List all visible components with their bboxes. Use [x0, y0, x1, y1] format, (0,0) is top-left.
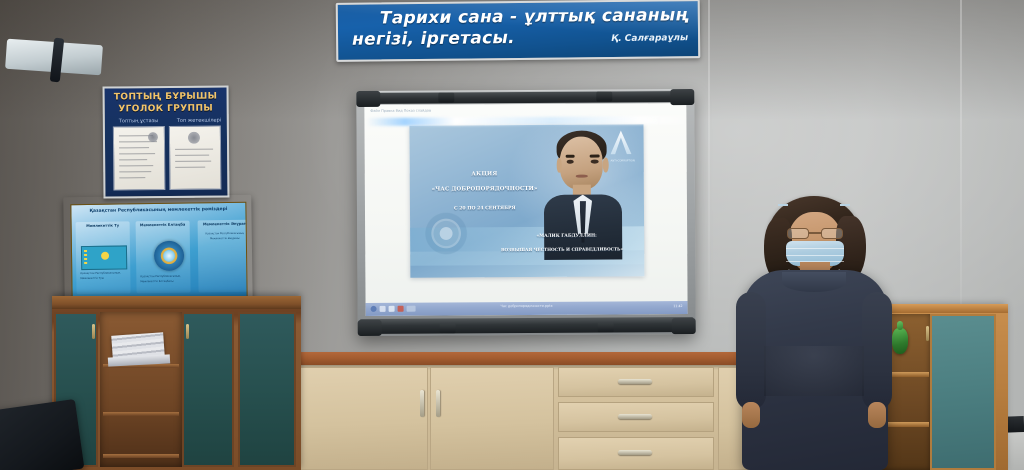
whiteboard-clip-bottom-2 — [598, 322, 614, 332]
powerpoint-icon[interactable] — [398, 306, 404, 312]
board-sub-left: Топтың ұстазы — [119, 118, 158, 124]
poster-column-anthem: Мемлекеттік Әнұран Қазақстан Республикас… — [198, 220, 248, 293]
drawer-handle-1[interactable] — [618, 379, 652, 384]
right-cabinet-handle[interactable] — [926, 326, 929, 341]
whiteboard-clip-top-1 — [438, 92, 454, 102]
kazakhstan-flag-icon — [81, 245, 127, 270]
shelf-board-3 — [103, 454, 179, 458]
state-symbols-poster: Қазақстан Республикасының мемлекеттік рә… — [70, 202, 247, 302]
left-cabinet-door-2[interactable] — [182, 312, 234, 467]
start-button-icon[interactable] — [371, 306, 377, 312]
foreground-chair[interactable] — [0, 399, 84, 470]
document-stamp-icon — [148, 132, 158, 142]
slide-line-5: ВОЗВЫШАЯ ЧЕСТНОСТЬ И СПРАВЕДЛИВОСТЬ» — [480, 246, 643, 252]
mask-strap-left — [778, 204, 788, 206]
cabinet-handle-2[interactable] — [436, 390, 440, 417]
board-document-right — [169, 126, 222, 190]
anticorruption-logo-icon: ANTI-CORRUPTION — [610, 131, 631, 163]
left-cabinet-open-shelf — [100, 312, 182, 467]
poster-col2-body: Қазақстан Республикасының Мемлекеттік Ел… — [140, 275, 186, 285]
logo-label: ANTI-CORRUPTION — [611, 159, 632, 162]
cabinet-door-2[interactable] — [430, 367, 554, 470]
whiteboard-corner-top-right — [670, 89, 694, 105]
taskbar-window-title[interactable]: Час добропорядочности.pptx — [501, 304, 553, 308]
projected-desktop: Файл Правка Вид Показ слайдов — [364, 103, 687, 316]
left-cabinet-handle-2[interactable] — [186, 324, 189, 339]
presentation-slide: ANTI-CORRUPTION АКЦИЯ «ЧАС ДОБРОПОРЯДОЧН… — [410, 124, 644, 277]
poster-col1-body: Қазақстан Республикасының Мемлекеттік Ту… — [80, 271, 126, 281]
portrait-brow-left — [566, 155, 575, 158]
shelf-board-2 — [103, 412, 179, 416]
browser-icon[interactable] — [389, 306, 395, 312]
drawer-handle-2[interactable] — [618, 414, 652, 419]
dress-collar — [782, 272, 846, 292]
cabinet-door-1[interactable] — [298, 367, 428, 470]
presenter-arm-left — [736, 292, 766, 410]
portrait-head — [560, 137, 603, 190]
wall-banner: Тарихи сана - ұлттық сананың негізі, ірг… — [336, 0, 701, 62]
taskbar-clock: 11:42 — [673, 304, 682, 308]
explorer-icon[interactable] — [380, 306, 386, 312]
whiteboard-clip-top-2 — [596, 91, 612, 101]
classroom-photo: Тарихи сана - ұлттық сананың негізі, ірг… — [0, 0, 1024, 470]
board-sub-right: Топ жетекшілері — [177, 118, 221, 124]
whiteboard-corner-bottom-right — [672, 318, 696, 334]
state-symbols-frame: Қазақстан Республикасының мемлекеттік рә… — [63, 195, 253, 308]
wall-seam-right — [960, 0, 962, 330]
banner-author: Қ. Салғараұлы — [611, 33, 688, 44]
left-cabinet-handle-1[interactable] — [92, 324, 95, 339]
left-cabinet-door-3[interactable] — [238, 312, 296, 467]
presenter — [730, 196, 898, 470]
portrait-eye-right — [591, 159, 598, 163]
window-icon[interactable] — [407, 306, 416, 312]
poster-col3-heading: Мемлекеттік Әнұран — [198, 222, 248, 227]
whiteboard-pen-tray[interactable] — [360, 317, 694, 334]
wall-seam-left — [708, 0, 710, 300]
banner-line-1: Тарихи сана - ұлттық сананың — [380, 5, 688, 28]
board-title-ru: УГОЛОК ГРУППЫ — [105, 103, 227, 114]
document-seal-icon — [188, 132, 200, 144]
group-corner-board: ТОПТЫҢ БҰРЫШЫ УГОЛОК ГРУППЫ Топтың ұстаз… — [103, 85, 230, 198]
left-cabinet-top — [52, 296, 301, 309]
board-title-kk: ТОПТЫҢ БҰРЫШЫ — [105, 91, 227, 102]
poster-col1-heading: Мемлекеттік Ту — [76, 223, 130, 228]
left-wood-cabinet[interactable] — [52, 296, 301, 470]
presenter-hand-right — [868, 402, 886, 428]
slide-line-1: АКЦИЯ — [424, 171, 545, 178]
kazakhstan-emblem-icon — [154, 241, 184, 271]
mask-strap-right — [840, 204, 850, 206]
presenter-arm-right — [862, 292, 892, 410]
projector-titlebar: Файл Правка Вид Показ слайдов — [370, 109, 431, 113]
portrait-ear-right — [603, 158, 609, 172]
whiteboard-corner-top-left — [356, 91, 380, 107]
poster-col2-heading: Мемлекеттік Елтаңба — [136, 223, 190, 228]
dress-fold — [764, 346, 864, 396]
right-cabinet-door[interactable] — [930, 314, 996, 470]
drawer-handle-3[interactable] — [618, 450, 652, 455]
whiteboard-clip-bottom-1 — [440, 323, 456, 333]
poster-column-emblem: Мемлекеттік Елтаңба Қазақстан Республика… — [136, 221, 191, 294]
glasses-lens-left — [787, 228, 809, 239]
slide-line-2: «ЧАС ДОБРОПОРЯДОЧНОСТИ» — [415, 186, 555, 193]
presenter-glasses — [787, 228, 843, 239]
whiteboard-top-rail — [358, 91, 692, 104]
cabinet-handle-1[interactable] — [420, 390, 424, 417]
presenter-hand-left — [742, 402, 760, 428]
poster-col3-body: Қазақстан Республикасының Мемлекеттік Ән… — [202, 232, 248, 242]
whiteboard-corner-bottom-left — [358, 320, 382, 336]
whiteboard-surface[interactable]: Файл Правка Вид Показ слайдов — [364, 103, 687, 316]
slide-line-4: «МАЛИК ГАБДУЛЛИН: — [494, 234, 639, 240]
portrait-brow-right — [590, 155, 599, 158]
poster-column-flag: Мемлекеттік Ту Қазақстан Республикасының… — [76, 221, 131, 294]
right-shelf-cabinet[interactable] — [880, 304, 1008, 470]
projected-taskbar[interactable]: Час добропорядочности.pptx 11:42 — [366, 301, 688, 316]
banner-line-2: негізі, іргетасы. — [352, 28, 515, 50]
poster-title: Қазақстан Республикасының мемлекеттік рә… — [71, 207, 245, 216]
interactive-whiteboard[interactable]: Файл Правка Вид Показ слайдов — [356, 89, 695, 336]
portrait-ear-left — [556, 158, 562, 172]
glasses-lens-right — [821, 228, 843, 239]
right-cabinet-top — [880, 304, 1008, 313]
portrait-eye-left — [567, 159, 574, 163]
slide-line-3: С 20 ПО 24 СЕНТЯБРЯ — [424, 205, 545, 211]
glasses-bridge — [809, 232, 821, 234]
board-document-left — [113, 126, 166, 190]
